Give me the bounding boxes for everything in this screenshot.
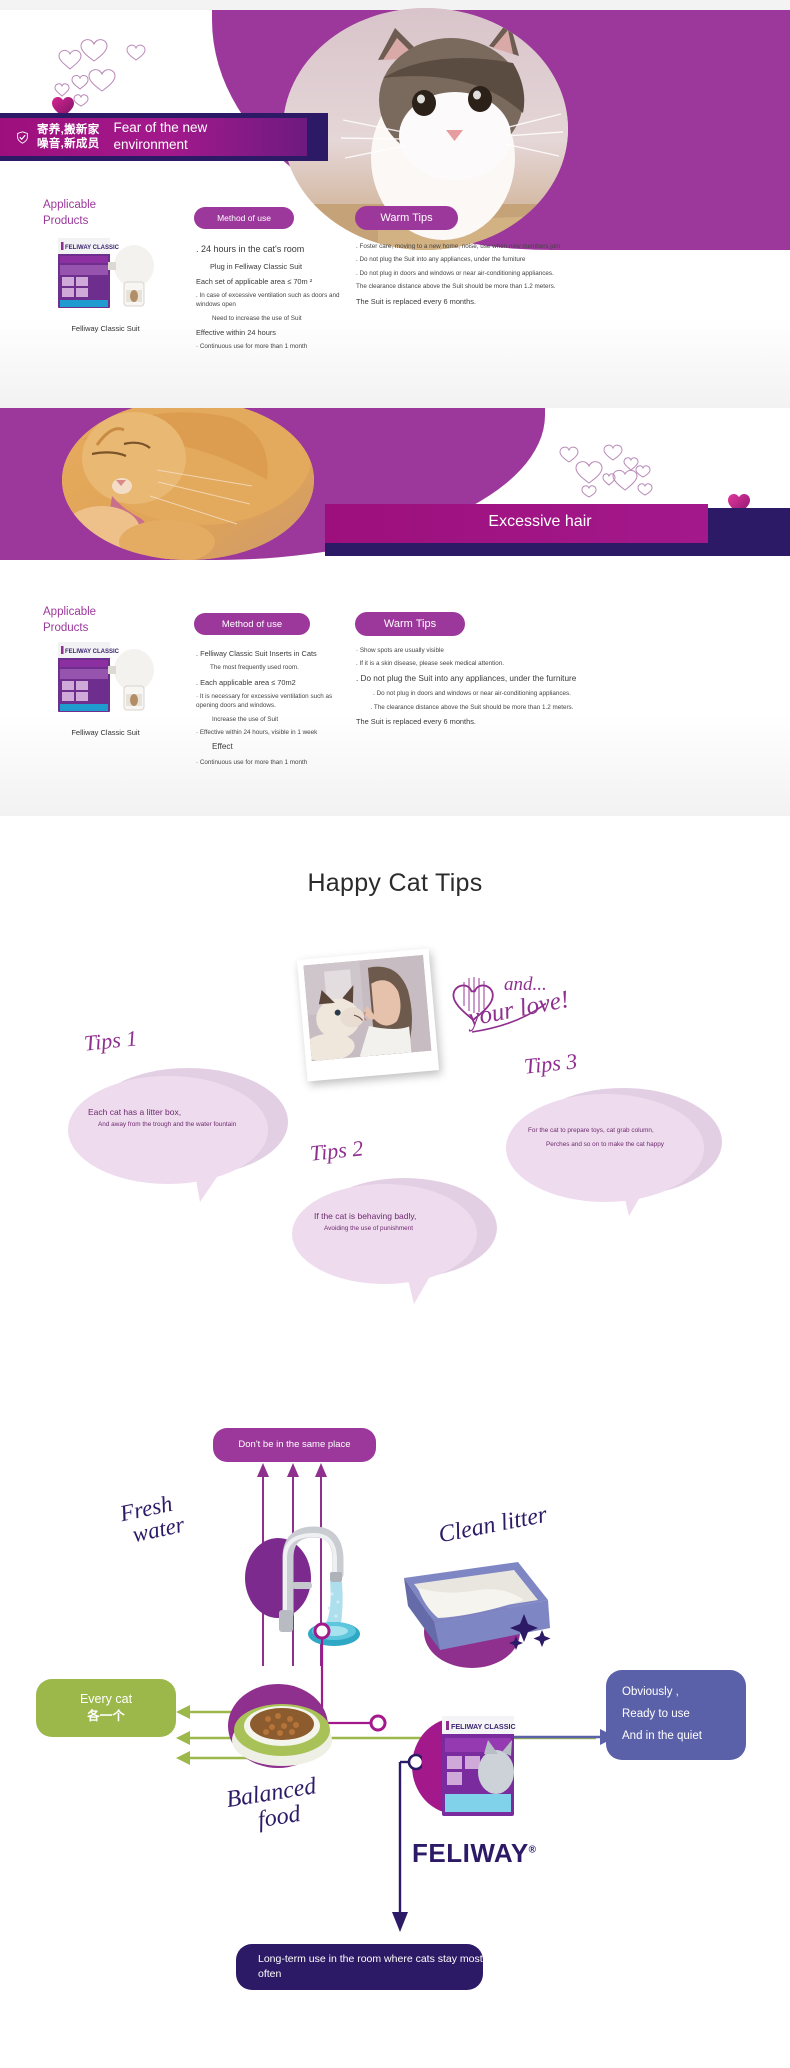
tip-text-2: If the cat is behaving badly, Avoiding t…: [314, 1211, 472, 1233]
feliway-brand-wordmark: FELIWAY®: [412, 1838, 537, 1869]
product-caption-2: Felliway Classic Suit: [28, 728, 183, 737]
svg-text:FELIWAY CLASSIC: FELIWAY CLASSIC: [451, 1722, 516, 1731]
applicable-products-title-2: Applicable Products: [43, 605, 143, 636]
svg-text:FELIWAY CLASSIC: FELIWAY CLASSIC: [65, 649, 120, 655]
feliway-classic-box-and-diffuser-icon: FELIWAY CLASSIC: [38, 232, 173, 312]
section1-banner-cn: 寄养,搬新家 噪音,新成员: [37, 123, 100, 152]
tips-label-2: Tips 2: [309, 1135, 365, 1166]
tips-label-1: Tips 1: [83, 1025, 139, 1056]
heart-doodles-icon-2: [555, 436, 675, 506]
woman-kissing-cat-icon: [303, 955, 431, 1061]
every-cat-pill[interactable]: Every cat 各一个: [36, 1679, 176, 1737]
section2-banner-title: Excessive hair: [390, 513, 690, 531]
warm-tips-button-2[interactable]: Warm Tips: [355, 612, 465, 636]
feliway-classic-box-and-diffuser-icon-2: FELIWAY CLASSIC: [38, 636, 173, 716]
applicable-products-title-1: Applicable Products: [43, 198, 143, 229]
section1-banner-en: Fear of the newenvironment: [114, 120, 208, 154]
tip-bubble-2[interactable]: [292, 1184, 477, 1284]
section-happy-cat-tips: Happy Cat Tips: [0, 816, 790, 2068]
section-excessive-hair: Excessive hair Applicable Products FELIW…: [0, 408, 790, 816]
tip-text-1: Each cat has a litter box, And away from…: [88, 1107, 256, 1129]
clean-litter-label: Clean litter: [436, 1502, 549, 1549]
product-image-2: FELIWAY CLASSIC: [38, 636, 173, 716]
method-text-2: . Felliway Classic Suit Inserts in Cats …: [196, 648, 348, 771]
section-fear-of-new-environment: 寄养,搬新家 噪音,新成员 Fear of the newenvironment…: [0, 0, 790, 408]
warm-tips-button-1[interactable]: Warm Tips: [355, 206, 458, 230]
method-of-use-button-1[interactable]: Method of use: [194, 207, 294, 229]
svg-text:FELIWAY CLASSIC: FELIWAY CLASSIC: [65, 245, 120, 251]
diagram-bottom-pill[interactable]: Long-term use in the room where cats sta…: [236, 1944, 483, 1990]
product-image-1: FELIWAY CLASSIC: [38, 232, 173, 312]
litter-box-icon: [398, 1556, 558, 1676]
section1-banner: 寄养,搬新家 噪音,新成员 Fear of the newenvironment: [0, 118, 307, 156]
food-bowl-icon: [200, 1674, 360, 1784]
product-caption-1: Felliway Classic Suit: [28, 324, 183, 333]
page-title: Happy Cat Tips: [0, 869, 790, 898]
tip-text-3: For the cat to prepare toys, cat grab co…: [528, 1126, 693, 1150]
navy-connector: [372, 1748, 422, 1940]
and-your-love-script-icon: and... your love!: [448, 964, 608, 1054]
warm-tips-text-2: · Show spots are usually visible . If it…: [356, 646, 588, 731]
diagram-top-pill[interactable]: Don't be in the same place: [213, 1428, 376, 1462]
method-text-1: . 24 hours in the cat's room Plug in Fel…: [196, 243, 348, 356]
warm-tips-text-1: . Foster care, moving to a new home, noi…: [356, 242, 588, 311]
fresh-water-label: Freshwater: [118, 1490, 187, 1548]
tips-label-3: Tips 3: [523, 1048, 579, 1079]
polaroid-photo: [297, 948, 439, 1081]
method-of-use-button-2[interactable]: Method of use: [194, 613, 310, 635]
check-badge-icon: [16, 131, 29, 144]
obviously-pill[interactable]: Obviously , Ready to use And in the quie…: [606, 1670, 746, 1760]
tip-bubble-1[interactable]: [68, 1076, 268, 1184]
